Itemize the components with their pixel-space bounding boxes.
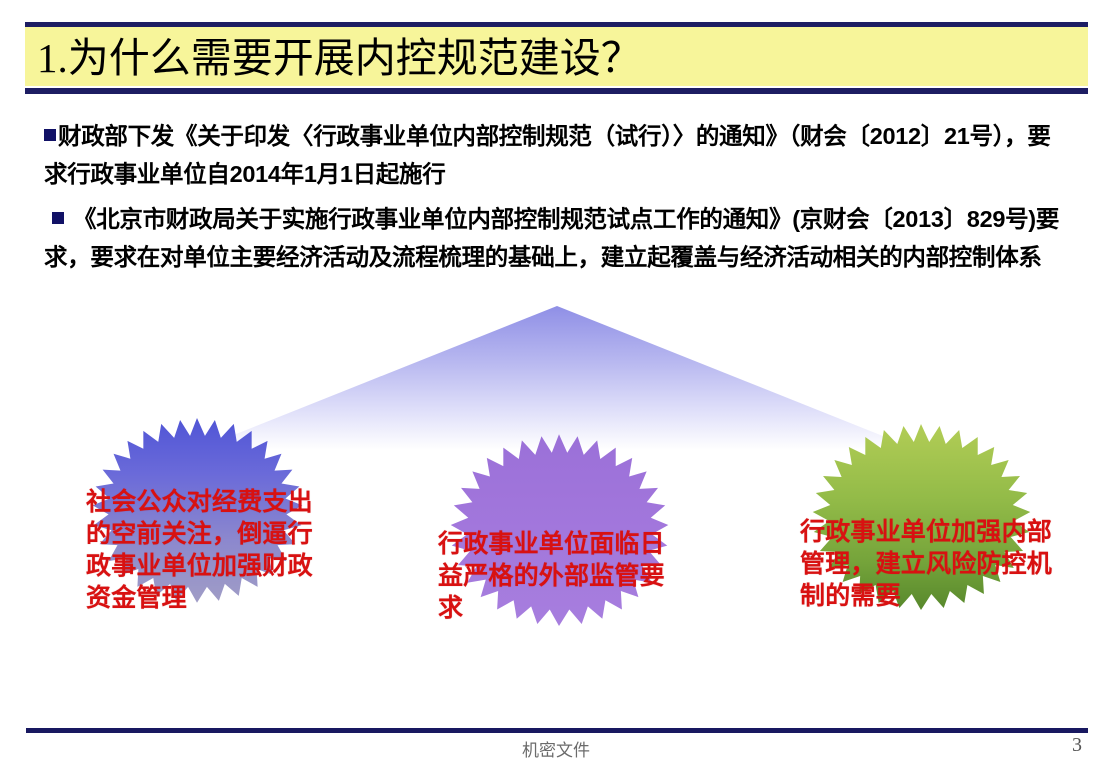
starburst-shape-1: 社会公众对经费支出的空前关注，倒逼行政事业单位加强财政资金管理 <box>38 412 356 730</box>
title-rule-bottom <box>25 86 1088 94</box>
starburst-label-3: 行政事业单位加强内部管理，建立风险防控机制的需要 <box>800 516 1052 612</box>
bullet-list: 财政部下发《关于印发〈行政事业单位内部控制规范（试行）〉的通知》（财会〔2012… <box>44 117 1064 276</box>
list-item-text: 《北京市财政局关于实施行政事业单位内部控制规范试点工作的通知》(京财会〔2013… <box>44 206 1059 270</box>
slide-canvas: 1.为什么需要开展内控规范建设？ 财政部下发《关于印发〈行政事业单位内部控制规范… <box>0 0 1112 764</box>
page-title: 1.为什么需要开展内控规范建设？ <box>37 28 642 88</box>
starburst-label-1: 社会公众对经费支出的空前关注，倒逼行政事业单位加强财政资金管理 <box>86 486 326 614</box>
square-bullet-icon <box>52 212 64 224</box>
footer-rule <box>26 728 1088 733</box>
slide-title-block: 1.为什么需要开展内控规范建设？ <box>25 22 1088 94</box>
list-item: 《北京市财政局关于实施行政事业单位内部控制规范试点工作的通知》(京财会〔2013… <box>44 200 1064 276</box>
starburst-shape-2: 行政事业单位面临日益严格的外部监管要求 <box>394 428 724 758</box>
starburst-label-2: 行政事业单位面临日益严格的外部监管要求 <box>438 528 688 624</box>
starburst-shape-3: 行政事业单位加强内部管理，建立风险防控机制的需要 <box>756 418 1086 738</box>
page-number: 3 <box>1072 734 1082 757</box>
list-item: 财政部下发《关于印发〈行政事业单位内部控制规范（试行）〉的通知》（财会〔2012… <box>44 117 1064 193</box>
square-bullet-icon <box>44 129 56 141</box>
footer-label: 机密文件 <box>0 736 1112 761</box>
list-item-text: 财政部下发《关于印发〈行政事业单位内部控制规范（试行）〉的通知》（财会〔2012… <box>44 123 1051 187</box>
